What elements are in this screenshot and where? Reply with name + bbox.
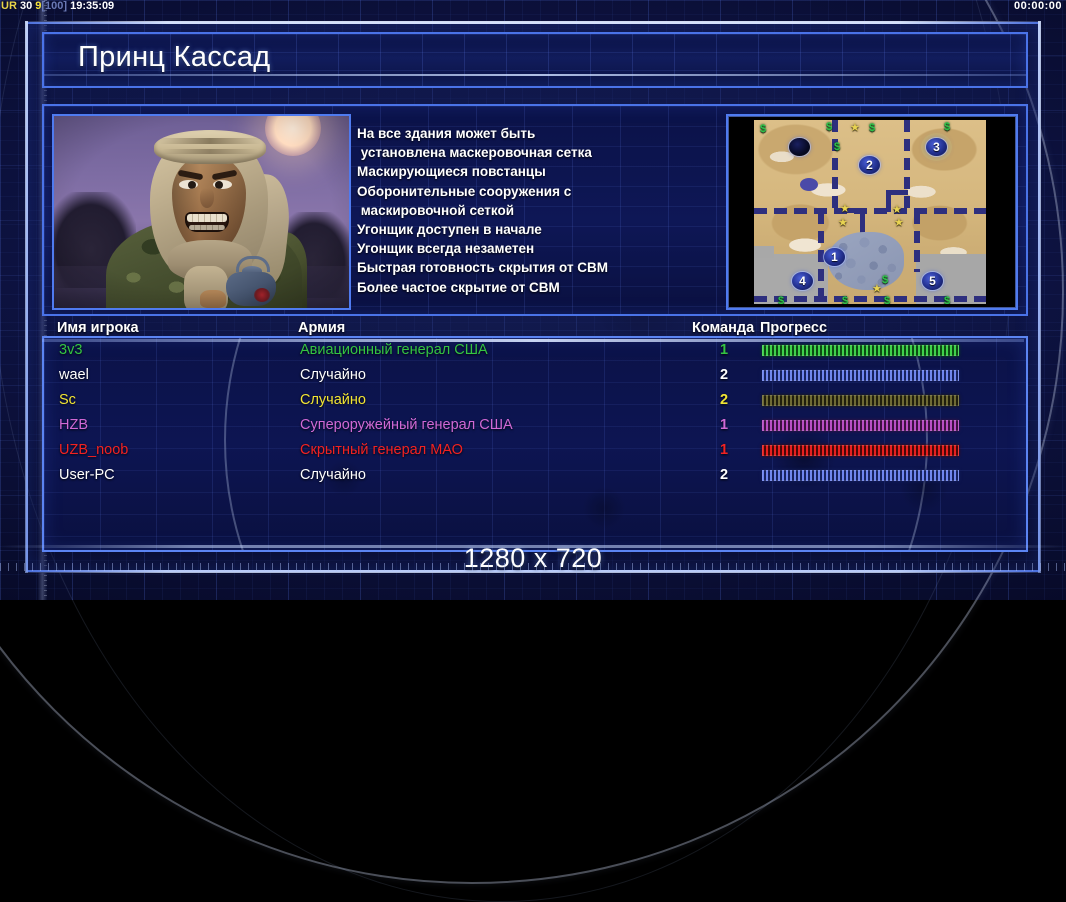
column-header-army[interactable]: Армия	[298, 320, 345, 336]
ability-line: На все здания может быть	[357, 124, 647, 143]
frame-highlight-left	[25, 21, 28, 573]
player-army: Случайно	[300, 463, 366, 488]
player-progress	[762, 445, 962, 456]
status-bracket: [100]	[41, 0, 67, 12]
player-team: 2	[694, 463, 754, 488]
player-progress	[762, 470, 962, 481]
frame-highlight-right	[1038, 21, 1041, 573]
general-info-panel: На все здания может быть установлена мас…	[42, 104, 1028, 316]
table-row[interactable]: UZB_noobСкрытный генерал МАО1	[44, 438, 1026, 463]
ability-line: Угонщик всегда незаметен	[357, 239, 647, 258]
player-progress	[762, 345, 962, 356]
column-header-team[interactable]: Команда	[692, 320, 754, 336]
player-name: UZB_noob	[59, 438, 128, 463]
progress-bar	[762, 420, 959, 431]
player-progress	[762, 420, 962, 431]
player-name: Sc	[59, 388, 76, 413]
player-army: Супероружейный генерал США	[300, 413, 513, 438]
frame-highlight-top	[25, 21, 1041, 24]
player-name: wael	[59, 363, 89, 388]
resolution-rule	[0, 545, 1066, 548]
player-team: 1	[694, 438, 754, 463]
general-ability-list: На все здания может быть установлена мас…	[357, 124, 647, 297]
page-title: Принц Кассад	[78, 41, 271, 74]
resolution-ticks	[0, 563, 1066, 571]
table-row[interactable]: HZBСупероружейный генерал США1	[44, 413, 1026, 438]
status-value-a: 30	[20, 0, 32, 12]
progress-bar	[762, 345, 959, 356]
progress-bar	[762, 370, 959, 381]
player-army: Случайно	[300, 388, 366, 413]
player-team: 2	[694, 363, 754, 388]
status-clock: 19:35:09	[70, 0, 114, 12]
map-preview-inner-border	[728, 116, 1016, 308]
player-table-panel: 3v3Авиационный генерал США1waelСлучайно2…	[42, 336, 1028, 552]
player-name: HZB	[59, 413, 88, 438]
portrait-vignette	[54, 116, 349, 308]
ability-line: Оборонительные сооружения с	[357, 182, 647, 201]
status-ur-label: UR	[1, 0, 17, 12]
map-preview: $$$$$$$$$$ ★★★★★★ 12345	[726, 114, 1018, 310]
table-row[interactable]: waelСлучайно2	[44, 363, 1026, 388]
column-header-name[interactable]: Имя игрока	[57, 320, 139, 336]
player-team: 1	[694, 413, 754, 438]
player-progress	[762, 395, 962, 406]
player-table-header-rule	[42, 339, 1024, 342]
progress-bar	[762, 470, 959, 481]
player-name: User-PC	[59, 463, 115, 488]
status-left-group: UR 30 9[100] 19:35:09	[1, 0, 114, 13]
title-bar: Принц Кассад	[42, 32, 1028, 88]
ability-line: маскировочной сеткой	[357, 201, 647, 220]
ability-line: установлена маскеровочная сетка	[357, 143, 647, 162]
resolution-bar: 1280 x 720	[0, 543, 1066, 583]
top-status-bar: UR 30 9[100] 19:35:09 00:00:00	[0, 0, 1066, 13]
column-header-progress[interactable]: Прогресс	[760, 320, 827, 336]
ability-line: Угонщик доступен в начале	[357, 220, 647, 239]
player-team: 2	[694, 388, 754, 413]
ability-line: Маскирующиеся повстанцы	[357, 162, 647, 181]
ability-line: Быстрая готовность скрытия от СВМ	[357, 258, 647, 277]
player-progress	[762, 370, 962, 381]
general-portrait	[52, 114, 351, 310]
status-timer: 00:00:00	[1014, 0, 1062, 13]
player-army: Случайно	[300, 363, 366, 388]
table-row[interactable]: User-PCСлучайно2	[44, 463, 1026, 488]
player-army: Скрытный генерал МАО	[300, 438, 463, 463]
main-frame: Принц Кассад	[26, 22, 1040, 572]
progress-bar	[762, 445, 959, 456]
progress-bar	[762, 395, 959, 406]
player-table-header: Имя игрокаАрмияКомандаПрогресс	[42, 320, 1024, 342]
title-bar-underline	[44, 74, 1026, 76]
ability-line: Более частое скрытие от СВМ	[357, 278, 647, 297]
table-row[interactable]: ScСлучайно2	[44, 388, 1026, 413]
player-rows: 3v3Авиационный генерал США1waelСлучайно2…	[44, 338, 1026, 488]
